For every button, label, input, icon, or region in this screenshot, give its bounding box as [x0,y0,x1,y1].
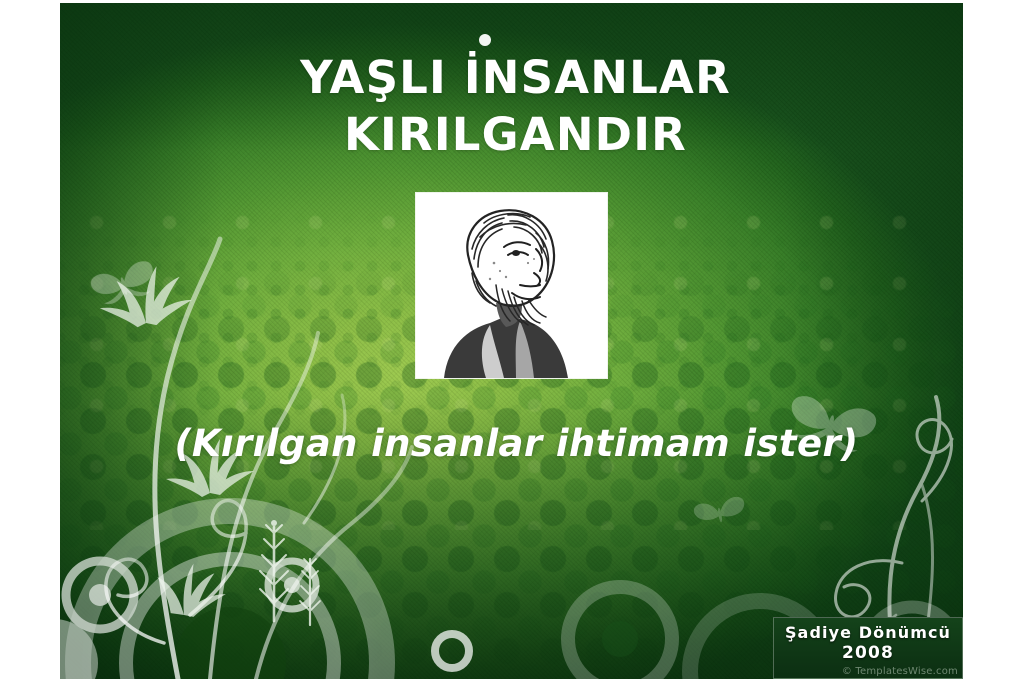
slide-title: YAŞLI İNSANLAR KIRILGANDIR [60,49,963,163]
slide-canvas: YAŞLI İNSANLAR KIRILGANDIR [60,3,963,679]
title-line-2: KIRILGANDIR [68,106,963,163]
templateswise-watermark: © TemplatesWise.com [842,666,958,677]
sketch-illustration [416,193,607,378]
subtitle-text: (Kırılgan insanlar ihtimam ister) [70,419,963,469]
slide-root: YAŞLI İNSANLAR KIRILGANDIR [0,0,1024,683]
credit-author: Şadiye Dönümcü [774,623,962,643]
credit-year: 2008 [774,643,962,663]
elderly-person-sketch-image [416,193,607,378]
title-line-1: YAŞLI İNSANLAR [68,49,963,106]
slide-subtitle: (Kırılgan insanlar ihtimam ister) [60,419,963,469]
credit-box: Şadiye Dönümcü 2008 © TemplatesWise.com [773,617,963,679]
